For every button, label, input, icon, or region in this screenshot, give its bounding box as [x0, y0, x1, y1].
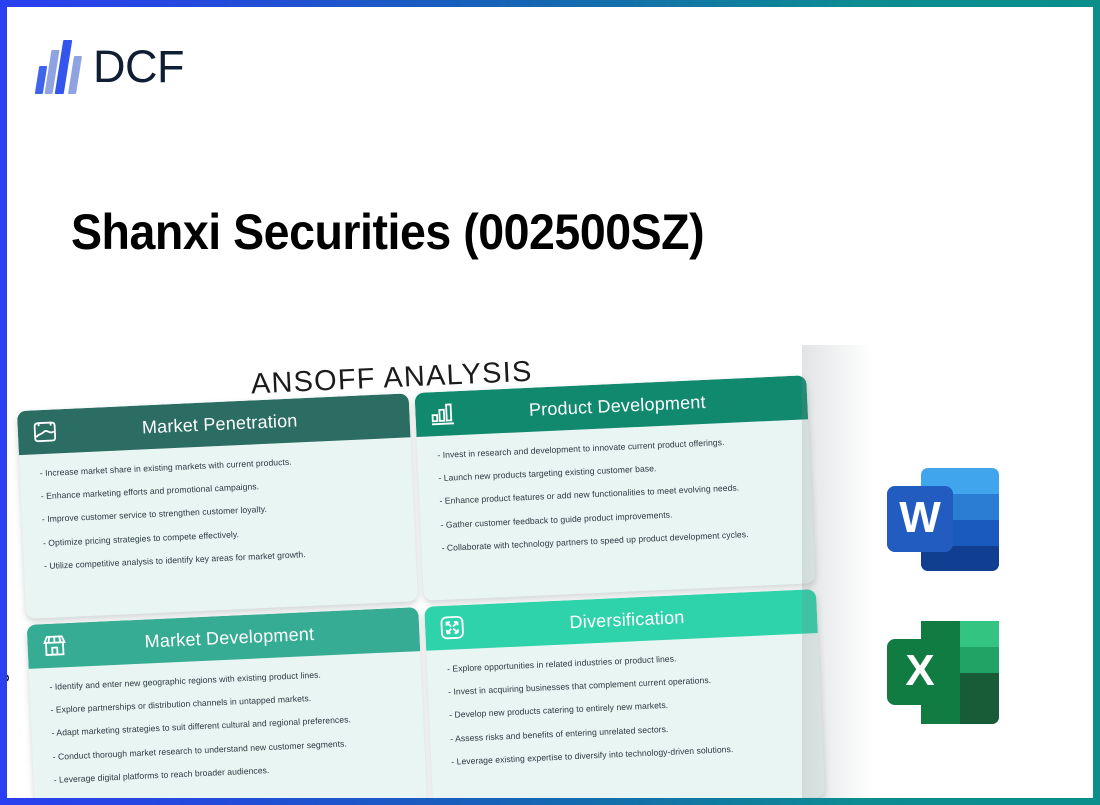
- bullet-item: - Leverage digital platforms to reach br…: [53, 759, 411, 786]
- quadrant-market-development[interactable]: Market Development - Identify and enter …: [27, 607, 428, 798]
- expand-arrows-icon: [437, 612, 468, 643]
- bullet-item: - Explore opportunities in related indus…: [447, 648, 805, 675]
- svg-text:X: X: [905, 646, 934, 695]
- quadrant-body: - Identify and enter new geographic regi…: [29, 651, 427, 798]
- quadrant-market-penetration[interactable]: Market Penetration - Increase market sha…: [17, 393, 418, 619]
- microsoft-word-icon[interactable]: W: [879, 462, 1009, 577]
- quadrant-title: Market Development: [69, 619, 420, 656]
- image-card-icon: [29, 416, 60, 447]
- ansoff-infographic: ANSOFF ANALYSIS Mar: [25, 345, 825, 798]
- quadrant-diversification[interactable]: Diversification - Explore opportunities …: [424, 589, 825, 798]
- quadrant-title: Product Development: [457, 387, 808, 424]
- bullet-item: - Invest in acquiring businesses that co…: [448, 671, 806, 698]
- bullet-item: - Collaborate with technology partners t…: [441, 527, 799, 554]
- bullet-item: - Launch new products targeting existing…: [438, 457, 796, 484]
- bullet-item: - Enhance marketing efforts and promotio…: [41, 475, 399, 502]
- storefront-icon: [39, 630, 70, 661]
- bullet-item: - Increase market share in existing mark…: [40, 452, 398, 479]
- axis-label-existing-markets: sting Markets: [7, 617, 9, 707]
- quadrant-title: Diversification: [467, 601, 818, 638]
- page-title: Shanxi Securities (002500SZ): [71, 203, 704, 261]
- quadrant-body: - Invest in research and development to …: [417, 419, 815, 575]
- bullet-item: - Develop new products catering to entir…: [449, 694, 807, 721]
- bullet-item: - Enhance product features or add new fu…: [439, 480, 797, 507]
- bullet-item: - Assess risks and benefits of entering …: [450, 717, 808, 744]
- bullet-item: - Adapt marketing strategies to suit dif…: [51, 712, 409, 739]
- bullet-item: - Identify and enter new geographic regi…: [49, 666, 407, 693]
- quadrant-body: - Explore opportunities in related indus…: [426, 633, 824, 789]
- quadrant-body: - Increase market share in existing mark…: [19, 437, 417, 593]
- page-frame: DCF Shanxi Securities (002500SZ) ANSOFF …: [0, 0, 1100, 805]
- bullet-item: - Improve customer service to strengthen…: [42, 498, 400, 525]
- svg-text:W: W: [899, 493, 941, 542]
- bullet-item: - Explore partnerships or distribution c…: [50, 689, 408, 716]
- bullet-item: - Gather customer feedback to guide prod…: [440, 503, 798, 530]
- bullet-item: - Optimize pricing strategies to compete…: [43, 522, 401, 549]
- dcf-logo[interactable]: DCF: [37, 40, 184, 94]
- logo-wordmark: DCF: [93, 41, 184, 93]
- bullet-item: - Invest in research and development to …: [437, 434, 795, 461]
- bullet-item: - Utilize competitive analysis to identi…: [44, 545, 402, 572]
- bullet-item: - Leverage existing expertise to diversi…: [451, 740, 809, 767]
- page-canvas: DCF Shanxi Securities (002500SZ) ANSOFF …: [7, 7, 1093, 798]
- quadrant-title: Market Penetration: [59, 405, 410, 442]
- quadrant-product-development[interactable]: Product Development - Invest in research…: [415, 375, 816, 601]
- ansoff-quadrant-grid: Market Penetration - Increase market sha…: [17, 375, 825, 798]
- bullet-item: - Conduct thorough market research to un…: [52, 735, 410, 762]
- dcf-bars-logo-icon: [37, 40, 81, 94]
- microsoft-excel-icon[interactable]: X: [879, 615, 1009, 730]
- bar-chart-icon: [427, 398, 458, 429]
